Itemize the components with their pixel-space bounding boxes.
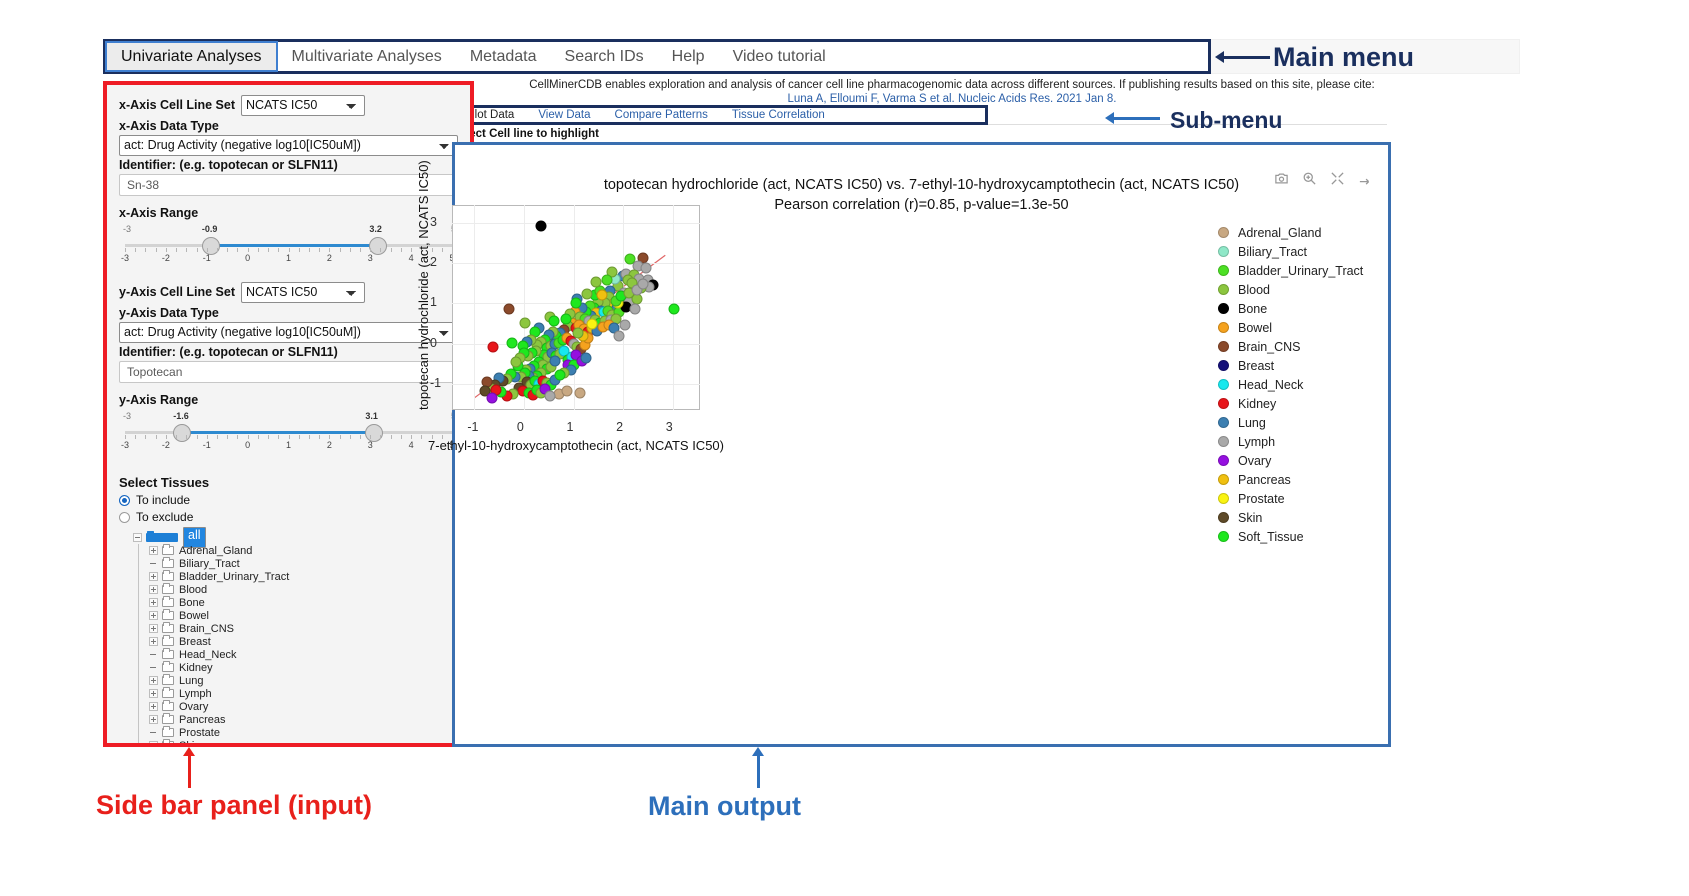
legend-swatch-icon	[1218, 493, 1229, 504]
legend-item-bone[interactable]: Bone	[1218, 299, 1363, 318]
y-tick-label: -1	[430, 376, 441, 390]
scatter-point[interactable]	[560, 313, 571, 324]
y-slider-tick--3: -3	[121, 440, 129, 450]
y-axis-data-type-label: y-Axis Data Type	[119, 306, 458, 320]
tissue-node-lymph[interactable]: Lymph	[149, 687, 458, 700]
scatter-point[interactable]	[582, 288, 593, 299]
x-slider-tick--1: -1	[203, 253, 211, 263]
sub-menu-item-tissue-correlation[interactable]: Tissue Correlation	[720, 109, 837, 121]
legend-label: Lung	[1238, 416, 1266, 430]
select-tissues-title: Select Tissues	[119, 475, 458, 490]
x-slider-tick-1: 1	[286, 253, 291, 263]
citation-line-2[interactable]: Luna A, Elloumi F, Varma S et al. Nuclei…	[517, 92, 1387, 106]
plot-modebar[interactable]	[1274, 171, 1373, 186]
y-axis-cell-line-set-row: y-Axis Cell Line Set NCATS IC50	[119, 282, 458, 303]
tissue-node-label: Bowel	[179, 610, 209, 622]
legend-swatch-icon	[1218, 322, 1229, 333]
expand-ovary-icon[interactable]	[149, 702, 158, 711]
tissue-node-head_neck[interactable]: Head_Neck	[149, 648, 458, 661]
annotation-arrow-sub-menu	[1112, 117, 1160, 120]
tissue-node-bone[interactable]: Bone	[149, 596, 458, 609]
x-axis-cell-line-set-label: x-Axis Cell Line Set	[119, 98, 235, 112]
y-slider-tick-1: 1	[286, 440, 291, 450]
legend-swatch-icon	[1218, 531, 1229, 542]
main-menu-item-help[interactable]: Help	[658, 42, 719, 71]
tissue-node-kidney[interactable]: Kidney	[149, 661, 458, 674]
legend-swatch-icon	[1218, 227, 1229, 238]
y-axis-range-label: y-Axis Range	[119, 393, 458, 407]
y-axis-data-type-select[interactable]: act: Drug Activity (negative log10[IC50u…	[119, 322, 458, 343]
x-tick-label: 0	[517, 420, 524, 434]
folder-lymph-icon	[162, 689, 174, 698]
autoscale-icon[interactable]	[1330, 171, 1345, 186]
y-tick-label: 3	[430, 215, 437, 229]
annotation-arrow-output	[757, 755, 760, 788]
tissue-node-label: Breast	[179, 636, 211, 648]
tissue-mode-include[interactable]: To include	[119, 493, 458, 507]
tissue-node-label: Lung	[179, 675, 203, 687]
legend-label: Prostate	[1238, 492, 1285, 506]
scatter-point[interactable]	[510, 357, 521, 368]
scatter-point[interactable]	[554, 370, 565, 381]
legend-swatch-icon	[1218, 379, 1229, 390]
x-slider-tick-3: 3	[368, 253, 373, 263]
scatter-point[interactable]	[571, 297, 582, 308]
leaf-prostate-icon	[149, 728, 158, 737]
legend-swatch-icon	[1218, 246, 1229, 257]
y-axis-identifier-input[interactable]	[119, 361, 458, 383]
legend-item-adrenal_gland[interactable]: Adrenal_Gland	[1218, 223, 1363, 242]
x-axis-range-slider[interactable]: -3 5 -0.9 3.2 -3-2-1012345	[119, 224, 458, 272]
y-tick-label: 0	[430, 336, 437, 350]
y-range-high-value: 3.1	[365, 411, 378, 421]
legend-item-skin[interactable]: Skin	[1218, 508, 1363, 527]
legend-item-blood[interactable]: Blood	[1218, 280, 1363, 299]
legend-swatch-icon	[1218, 474, 1229, 485]
scatter-point[interactable]	[602, 275, 613, 286]
radio-include-label: To include	[136, 493, 190, 507]
x-tick-label: 3	[666, 420, 673, 434]
legend-swatch-icon	[1218, 341, 1229, 352]
camera-icon[interactable]	[1274, 171, 1289, 186]
expand-adrenal_gland-icon[interactable]	[149, 546, 158, 555]
y-tick-label: 1	[430, 295, 437, 309]
legend-swatch-icon	[1218, 512, 1229, 523]
legend-label: Pancreas	[1238, 473, 1291, 487]
plot-title: topotecan hydrochloride (act, NCATS IC50…	[455, 177, 1388, 193]
sub-menu[interactable]: Plot DataView DataCompare PatternsTissue…	[452, 105, 988, 125]
folder-all-icon	[146, 533, 178, 542]
y-range-min-bound: -3	[123, 411, 131, 421]
x-axis-identifier-input[interactable]	[119, 174, 458, 196]
y-axis-cell-line-set-select[interactable]: NCATS IC50	[241, 282, 365, 303]
x-slider-tick-0: 0	[245, 253, 250, 263]
tissue-node-label: Pancreas	[179, 714, 225, 726]
folder-adrenal_gland-icon	[162, 546, 174, 555]
legend-swatch-icon	[1218, 436, 1229, 447]
tissue-node-brain_cns[interactable]: Brain_CNS	[149, 622, 458, 635]
sub-menu-item-compare-patterns[interactable]: Compare Patterns	[603, 109, 720, 121]
expand-lung-icon[interactable]	[149, 676, 158, 685]
expand-bone-icon[interactable]	[149, 598, 158, 607]
annotation-output: Main output	[648, 791, 801, 822]
expand-blood-icon[interactable]	[149, 585, 158, 594]
leaf-kidney-icon	[149, 663, 158, 672]
annotation-main-menu: Main menu	[1273, 42, 1414, 73]
x-axis-data-type-select[interactable]: act: Drug Activity (negative log10[IC50u…	[119, 135, 458, 156]
tissue-node-pancreas[interactable]: Pancreas	[149, 713, 458, 726]
zoom-in-icon[interactable]	[1302, 171, 1317, 186]
tissue-node-label: Bone	[179, 597, 205, 609]
radio-exclude-label: To exclude	[136, 510, 193, 524]
folder-brain_cns-icon	[162, 624, 174, 633]
y-gridline	[452, 263, 700, 264]
folder-prostate-icon	[162, 728, 174, 737]
legend-label: Biliary_Tract	[1238, 245, 1307, 259]
legend-label: Head_Neck	[1238, 378, 1303, 392]
scatter-point[interactable]	[587, 319, 598, 330]
x-axis-data-type-label: x-Axis Data Type	[119, 119, 458, 133]
main-menu-item-univariate-analyses[interactable]: Univariate Analyses	[105, 41, 278, 72]
tissue-node-label: Ovary	[179, 701, 208, 713]
tree-guide-line	[138, 544, 139, 747]
folder-blood-icon	[162, 585, 174, 594]
scatter-point[interactable]	[637, 279, 648, 290]
scatter-point[interactable]	[536, 221, 547, 232]
x-axis-cell-line-set-row: x-Axis Cell Line Set NCATS IC50	[119, 95, 458, 116]
x-slider-axis-labels: -3-2-1012345	[119, 253, 458, 267]
tissue-node-label: Blood	[179, 584, 207, 596]
tissue-node-ovary[interactable]: Ovary	[149, 700, 458, 713]
tissue-node-label: Kidney	[179, 662, 213, 674]
scatter-point[interactable]	[620, 320, 631, 331]
x-tick-label: 2	[616, 420, 623, 434]
y-slider-tick--1: -1	[203, 440, 211, 450]
tissue-node-blood[interactable]: Blood	[149, 583, 458, 596]
legend-swatch-icon	[1218, 284, 1229, 295]
x-range-min-bound: -3	[123, 224, 131, 234]
legend-item-lymph[interactable]: Lymph	[1218, 432, 1363, 451]
y-slider-axis-labels: -3-2-1012345	[119, 440, 458, 454]
tissue-node-label: Prostate	[179, 727, 220, 739]
expand-brain_cns-icon[interactable]	[149, 624, 158, 633]
main-menu-item-metadata[interactable]: Metadata	[456, 42, 551, 71]
legend-item-breast[interactable]: Breast	[1218, 356, 1363, 375]
citation-line-1: CellMinerCDB enables exploration and ana…	[517, 78, 1387, 92]
radio-exclude-icon[interactable]	[119, 512, 130, 523]
legend-swatch-icon	[1218, 303, 1229, 314]
folder-biliary_tract-icon	[162, 559, 174, 568]
legend-label: Ovary	[1238, 454, 1271, 468]
x-range-high-value: 3.2	[369, 224, 382, 234]
scatter-point[interactable]	[561, 386, 572, 397]
folder-ovary-icon	[162, 702, 174, 711]
scatter-point[interactable]	[614, 330, 625, 341]
tissue-node-label: Brain_CNS	[179, 623, 234, 635]
expand-breast-icon[interactable]	[149, 637, 158, 646]
legend-item-head_neck[interactable]: Head_Neck	[1218, 375, 1363, 394]
tissue-tree[interactable]: allAdrenal_GlandBiliary_TractBladder_Uri…	[119, 531, 458, 747]
scatter-point[interactable]	[549, 356, 560, 367]
collapse-all-icon[interactable]	[133, 533, 142, 542]
legend-label: Bone	[1238, 302, 1267, 316]
legend-swatch-icon	[1218, 417, 1229, 428]
main-menu[interactable]: Univariate AnalysesMultivariate Analyses…	[103, 39, 1211, 74]
scatter-point[interactable]	[591, 276, 602, 287]
annotation-sidebar: Side bar panel (input)	[96, 790, 372, 821]
scatter-point[interactable]	[640, 263, 651, 274]
select-cell-line-label: Select Cell line to highlight	[452, 128, 599, 140]
main-menu-item-video-tutorial[interactable]: Video tutorial	[719, 42, 840, 71]
scatter-point[interactable]	[597, 289, 608, 300]
scatter-point[interactable]	[668, 304, 679, 315]
legend-label: Brain_CNS	[1238, 340, 1301, 354]
annotation-arrow-main-menu	[1222, 56, 1270, 59]
main-menu-item-multivariate-analyses[interactable]: Multivariate Analyses	[278, 42, 456, 71]
y-slider-tick-2: 2	[327, 440, 332, 450]
legend-item-ovary[interactable]: Ovary	[1218, 451, 1363, 470]
sub-menu-item-view-data[interactable]: View Data	[526, 109, 602, 121]
tissue-mode-exclude[interactable]: To exclude	[119, 510, 458, 524]
legend-label: Breast	[1238, 359, 1274, 373]
legend-item-bladder_urinary_tract[interactable]: Bladder_Urinary_Tract	[1218, 261, 1363, 280]
tissue-node-bladder_urinary_tract[interactable]: Bladder_Urinary_Tract	[149, 570, 458, 583]
tissue-node-biliary_tract[interactable]: Biliary_Tract	[149, 557, 458, 570]
folder-kidney-icon	[162, 663, 174, 672]
scatter-point[interactable]	[504, 304, 515, 315]
scatter-point[interactable]	[630, 304, 641, 315]
y-slider-fill	[182, 431, 374, 434]
folder-bowel-icon	[162, 611, 174, 620]
x-gridline	[474, 205, 475, 410]
tissue-node-label: Biliary_Tract	[179, 558, 240, 570]
x-tick-label: -1	[467, 420, 478, 434]
y-axis-range-slider[interactable]: -3 5 -1.6 3.1 -3-2-1012345	[119, 411, 458, 459]
legend-item-kidney[interactable]: Kidney	[1218, 394, 1363, 413]
legend-item-pancreas[interactable]: Pancreas	[1218, 470, 1363, 489]
legend-swatch-icon	[1218, 265, 1229, 276]
expand-skin-icon[interactable]	[149, 741, 158, 747]
x-slider-tick-2: 2	[327, 253, 332, 263]
y-slider-tick--2: -2	[162, 440, 170, 450]
legend-label: Adrenal_Gland	[1238, 226, 1321, 240]
scatter-point[interactable]	[548, 316, 559, 327]
x-axis-identifier-label: Identifier: (e.g. topotecan or SLFN11)	[119, 158, 458, 172]
legend-swatch-icon	[1218, 398, 1229, 409]
main-menu-item-search-ids[interactable]: Search IDs	[551, 42, 658, 71]
y-axis-cell-line-set-label: y-Axis Cell Line Set	[119, 285, 235, 299]
legend-item-bowel[interactable]: Bowel	[1218, 318, 1363, 337]
y-axis-identifier-label: Identifier: (e.g. topotecan or SLFN11)	[119, 345, 458, 359]
scatter-point[interactable]	[581, 353, 592, 364]
tissue-node-skin[interactable]: Skin	[149, 739, 458, 747]
annotation-arrow-sidebar	[188, 755, 191, 788]
tissue-node-label: Bladder_Urinary_Tract	[179, 571, 289, 583]
x-axis-cell-line-set-select[interactable]: NCATS IC50	[241, 95, 365, 116]
legend-swatch-icon	[1218, 360, 1229, 371]
scatter-point[interactable]	[519, 317, 530, 328]
expand-bowel-icon[interactable]	[149, 611, 158, 620]
tissue-node-prostate[interactable]: Prostate	[149, 726, 458, 739]
tissue-node-label: Skin	[179, 740, 200, 748]
x-axis-title: 7-ethyl-10-hydroxycamptothecin (act, NCA…	[428, 438, 724, 453]
leaf-head_neck-icon	[149, 650, 158, 659]
tissue-node-label: Lymph	[179, 688, 212, 700]
folder-pancreas-icon	[162, 715, 174, 724]
annotation-sub-menu: Sub-menu	[1170, 107, 1282, 134]
folder-skin-icon	[162, 741, 174, 747]
y-slider-tick-0: 0	[245, 440, 250, 450]
scatter-point[interactable]	[544, 390, 555, 401]
folder-bone-icon	[162, 598, 174, 607]
tissue-node-label: Head_Neck	[179, 649, 236, 661]
y-gridline	[452, 223, 700, 224]
scatter-point[interactable]	[507, 337, 518, 348]
radio-include-icon[interactable]	[119, 495, 130, 506]
tissue-node-lung[interactable]: Lung	[149, 674, 458, 687]
folder-bladder_urinary_tract-icon	[162, 572, 174, 581]
legend-label: Bowel	[1238, 321, 1272, 335]
expand-bladder_urinary_tract-icon[interactable]	[149, 572, 158, 581]
expand-lymph-icon[interactable]	[149, 689, 158, 698]
y-slider-tick-4: 4	[409, 440, 414, 450]
legend-label: Blood	[1238, 283, 1270, 297]
legend-label: Skin	[1238, 511, 1262, 525]
x-axis-range-label: x-Axis Range	[119, 206, 458, 220]
legend-label: Bladder_Urinary_Tract	[1238, 264, 1363, 278]
legend-label: Lymph	[1238, 435, 1275, 449]
expand-pancreas-icon[interactable]	[149, 715, 158, 724]
tissue-node-label: Adrenal_Gland	[179, 545, 252, 557]
legend-label: Kidney	[1238, 397, 1276, 411]
x-slider-tick-4: 4	[409, 253, 414, 263]
y-range-low-value: -1.6	[173, 411, 189, 421]
leaf-biliary_tract-icon	[149, 559, 158, 568]
tissue-node-breast[interactable]: Breast	[149, 635, 458, 648]
x-slider-fill	[211, 244, 379, 247]
y-axis-title: topotecan hydrochloride (act, NCATS IC50…	[416, 160, 431, 410]
scatter-point[interactable]	[575, 387, 586, 398]
plot-legend[interactable]: Adrenal_GlandBiliary_TractBladder_Urinar…	[1218, 223, 1363, 546]
legend-item-biliary_tract[interactable]: Biliary_Tract	[1218, 242, 1363, 261]
y-tick-label: 2	[430, 255, 437, 269]
legend-item-soft_tissue[interactable]: Soft_Tissue	[1218, 527, 1363, 546]
reset-axes-icon[interactable]	[1358, 171, 1373, 186]
tissue-node-bowel[interactable]: Bowel	[149, 609, 458, 622]
legend-label: Soft_Tissue	[1238, 530, 1304, 544]
folder-breast-icon	[162, 637, 174, 646]
folder-head_neck-icon	[162, 650, 174, 659]
y-slider-tick-3: 3	[368, 440, 373, 450]
tissue-node-all[interactable]: all	[133, 531, 458, 544]
x-slider-tick--2: -2	[162, 253, 170, 263]
tissue-node-adrenal_gland[interactable]: Adrenal_Gland	[149, 544, 458, 557]
x-tick-label: 1	[567, 420, 574, 434]
legend-swatch-icon	[1218, 455, 1229, 466]
scatter-point[interactable]	[488, 341, 499, 352]
legend-item-brain_cns[interactable]: Brain_CNS	[1218, 337, 1363, 356]
legend-item-lung[interactable]: Lung	[1218, 413, 1363, 432]
plot-axes-area[interactable]	[452, 205, 700, 410]
folder-lung-icon	[162, 676, 174, 685]
scatter-point[interactable]	[487, 392, 498, 403]
scatter-point[interactable]	[573, 328, 584, 339]
x-slider-tick--3: -3	[121, 253, 129, 263]
x-range-low-value: -0.9	[202, 224, 218, 234]
legend-item-prostate[interactable]: Prostate	[1218, 489, 1363, 508]
